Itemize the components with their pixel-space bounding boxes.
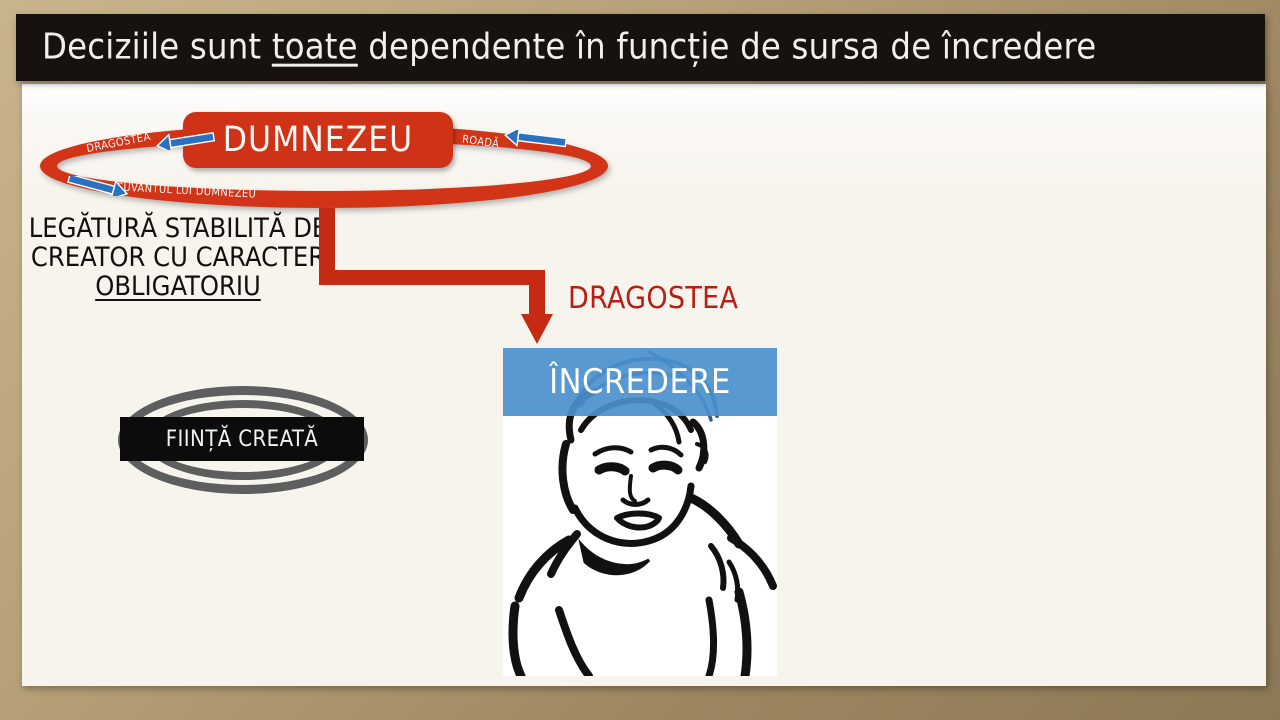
created-being-box[interactable]: FIINȚĂ CREATĂ — [120, 417, 364, 461]
created-being-group: FIINȚĂ CREATĂ — [118, 386, 368, 496]
page-title: Deciziile sunt toate dependente în funcț… — [42, 26, 1096, 67]
arrow-left-roada-icon — [504, 130, 570, 153]
arrow-right-cuvantul-icon — [66, 176, 130, 201]
desc-line-3: OBLIGATORIU — [18, 272, 338, 301]
dumnezeu-box[interactable]: DUMNEZEU — [183, 112, 453, 168]
title-emphasis: toate — [272, 26, 358, 67]
slide-title-bar: Deciziile sunt toate dependente în funcț… — [16, 14, 1265, 81]
title-prefix: Deciziile sunt — [42, 26, 272, 67]
created-being-label: FIINȚĂ CREATĂ — [166, 427, 319, 452]
desc-line-1: LEGĂTURĂ STABILITĂ DE — [18, 214, 338, 243]
slide-frame: Deciziile sunt toate dependente în funcț… — [0, 0, 1280, 720]
incredere-label: ÎNCREDERE — [549, 362, 731, 402]
desc-line-2: CREATOR CU CARACTER — [18, 243, 338, 272]
covenant-description: LEGĂTURĂ STABILITĂ DE CREATOR CU CARACTE… — [18, 214, 338, 301]
incredere-banner[interactable]: ÎNCREDERE — [503, 348, 777, 416]
arrow-left-dragostea-icon — [156, 132, 218, 155]
flow-arrow-icon — [300, 186, 600, 356]
dumnezeu-label: DUMNEZEU — [223, 120, 413, 160]
dragostea-callout-label: DRAGOSTEA — [568, 281, 738, 316]
title-suffix: dependente în funcție de sursa de încred… — [358, 26, 1097, 67]
